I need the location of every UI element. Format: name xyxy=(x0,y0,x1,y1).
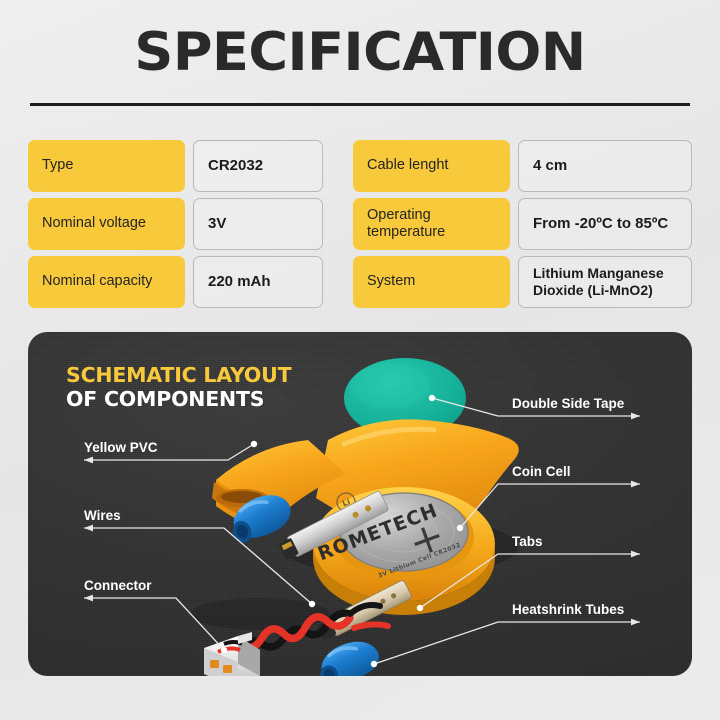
component-illustration: ROMETECH 3V Lithium Cell CR2032 Li xyxy=(28,332,692,676)
callout-label-double-side-tape: Double Side Tape xyxy=(512,396,624,411)
specification-table: Type CR2032 Cable lenght 4 cm Nominal vo… xyxy=(28,140,692,308)
spec-value-nominal-capacity: 220 mAh xyxy=(193,256,323,308)
spec-value-type: CR2032 xyxy=(193,140,323,192)
connector-part xyxy=(204,632,260,676)
spec-value-system: Lithium Manganese Dioxide (Li-MnO2) xyxy=(518,256,692,308)
spec-value-cable-lenght: 4 cm xyxy=(518,140,692,192)
column-gap xyxy=(323,140,353,192)
spec-key-nominal-capacity: Nominal capacity xyxy=(28,256,185,308)
spec-value-operating-temperature: From -20ºC to 85ºC xyxy=(518,198,692,250)
spec-key-cable-lenght: Cable lenght xyxy=(353,140,510,192)
spec-value-nominal-voltage: 3V xyxy=(193,198,323,250)
spec-key-type: Type xyxy=(28,140,185,192)
callout-label-tabs: Tabs xyxy=(512,534,543,549)
column-gap xyxy=(323,256,353,308)
callout-label-wires: Wires xyxy=(84,508,121,523)
spec-key-nominal-voltage: Nominal voltage xyxy=(28,198,185,250)
header-divider xyxy=(30,103,690,106)
spec-key-system: System xyxy=(353,256,510,308)
page-title: SPECIFICATION xyxy=(0,26,720,79)
column-gap xyxy=(323,198,353,250)
callout-label-heatshrink-tubes: Heatshrink Tubes xyxy=(512,602,624,617)
callout-label-connector: Connector xyxy=(84,578,152,593)
spec-key-operating-temperature: Operating temperature xyxy=(353,198,510,250)
callout-label-yellow-pvc: Yellow PVC xyxy=(84,440,158,455)
callout-label-coin-cell: Coin Cell xyxy=(512,464,571,479)
heatshrink-tube-lower-part xyxy=(313,635,384,676)
schematic-panel: SCHEMATIC LAYOUT OF COMPONENTS xyxy=(28,332,692,676)
